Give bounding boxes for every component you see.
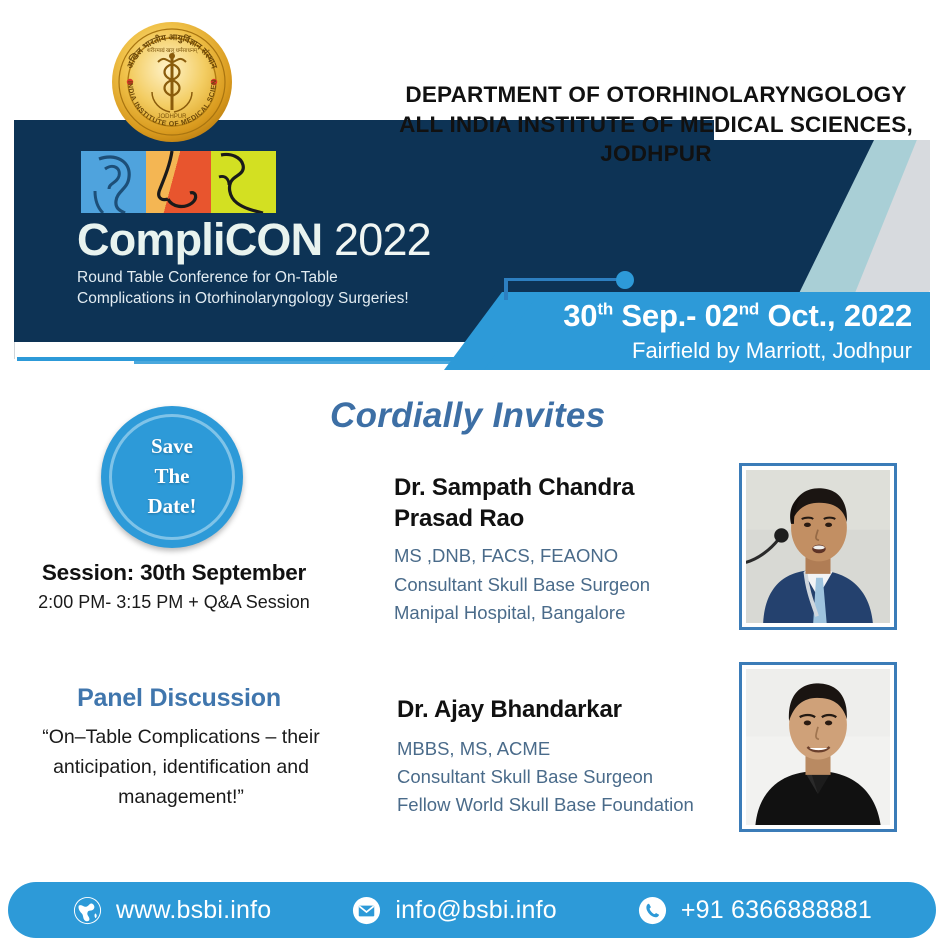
nose-icon xyxy=(146,151,211,213)
speaker-2-role: Consultant Skull Base Surgeon xyxy=(397,763,737,791)
tagline-line-1: Round Table Conference for On-Table xyxy=(77,268,409,289)
speaker-2-photo xyxy=(739,662,897,832)
ent-logo-icon xyxy=(81,151,277,213)
footer-website[interactable]: www.bsbi.info xyxy=(72,895,271,926)
save-the-date-line-1: Save xyxy=(151,432,193,462)
speaker-1-photo xyxy=(739,463,897,630)
tagline-line-2: Complications in Otorhinolaryngology Sur… xyxy=(77,289,409,310)
conference-logo-title: CompliCON 2022 xyxy=(77,214,431,266)
svg-text:शरीरमाद्यं खलु धर्मसाधनम्: शरीरमाद्यं खलु धर्मसाधनम् xyxy=(147,47,198,54)
speaker-card-2: Dr. Ajay Bhandarkar MBBS, MS, ACME Consu… xyxy=(397,695,737,819)
save-the-date-inner: Save The Date! xyxy=(109,414,235,540)
save-the-date-line-2: The xyxy=(154,462,189,492)
envelope-icon xyxy=(351,895,382,926)
speaker-card-1: Dr. Sampath Chandra Prasad Rao MS ,DNB, … xyxy=(394,473,724,627)
session-time: 2:00 PM- 3:15 PM + Q&A Session xyxy=(14,592,334,613)
panel-discussion-quote: “On–Table Complications – their anticipa… xyxy=(6,722,356,813)
conference-date-block: 30th Sep.- 02nd Oct., 2022 Fairfield by … xyxy=(514,298,930,364)
aiims-emblem-icon: अखिल भारतीय आयुर्विज्ञान संस्थान ALL IND… xyxy=(108,18,236,146)
conference-dates: 30th Sep.- 02nd Oct., 2022 xyxy=(514,298,912,334)
speaker-1-role: Consultant Skull Base Surgeon xyxy=(394,571,724,599)
footer-phone-label: +91 6366888881 xyxy=(681,896,872,925)
panel-quote-line-1: “On–Table Complications – their xyxy=(6,722,356,752)
department-line-2: ALL INDIA INSTITUTE OF MEDICAL SCIENCES,… xyxy=(386,110,926,169)
speaker-2-credentials: MBBS, MS, ACME xyxy=(397,735,737,763)
connector-dot-icon xyxy=(616,271,634,289)
speaker-2-affiliation: Fellow World Skull Base Foundation xyxy=(397,791,737,819)
connector-line xyxy=(506,278,622,281)
save-the-date-badge: Save The Date! xyxy=(101,406,243,548)
throat-icon xyxy=(211,151,276,213)
svg-text:JODHPUR: JODHPUR xyxy=(157,114,187,120)
globe-icon xyxy=(72,895,103,926)
conference-venue: Fairfield by Marriott, Jodhpur xyxy=(514,338,912,364)
speaker-2-name-line-1: Dr. Ajay Bhandarkar xyxy=(397,695,737,726)
department-line-1: DEPARTMENT OF OTORHINOLARYNGOLOGY xyxy=(386,80,926,110)
footer-email[interactable]: info@bsbi.info xyxy=(351,895,557,926)
speaker-1-credentials: MS ,DNB, FACS, FEAONO xyxy=(394,542,724,570)
conference-tagline: Round Table Conference for On-Table Comp… xyxy=(77,268,409,310)
cordially-invites-heading: Cordially Invites xyxy=(330,396,605,436)
ear-icon xyxy=(81,151,146,213)
speaker-1-affiliation: Manipal Hospital, Bangalore xyxy=(394,599,724,627)
footer-phone[interactable]: +91 6366888881 xyxy=(637,895,872,926)
save-the-date-line-3: Date! xyxy=(148,492,197,522)
speaker-1-name-line-2: Prasad Rao xyxy=(394,504,724,535)
footer-email-label: info@bsbi.info xyxy=(395,896,557,925)
connector-stub xyxy=(504,278,508,300)
session-title: Session: 30th September xyxy=(14,560,334,586)
poster-header: 30th Sep.- 02nd Oct., 2022 Fairfield by … xyxy=(14,10,930,370)
panel-discussion-title: Panel Discussion xyxy=(14,684,344,713)
speaker-1-name-line-1: Dr. Sampath Chandra xyxy=(394,473,724,504)
contact-footer: www.bsbi.info info@bsbi.info +91 6366888… xyxy=(8,882,936,938)
phone-icon xyxy=(637,895,668,926)
panel-quote-line-3: management!” xyxy=(6,782,356,812)
footer-website-label: www.bsbi.info xyxy=(116,896,271,925)
panel-quote-line-2: anticipation, identification and xyxy=(6,752,356,782)
department-title: DEPARTMENT OF OTORHINOLARYNGOLOGY ALL IN… xyxy=(386,80,926,169)
